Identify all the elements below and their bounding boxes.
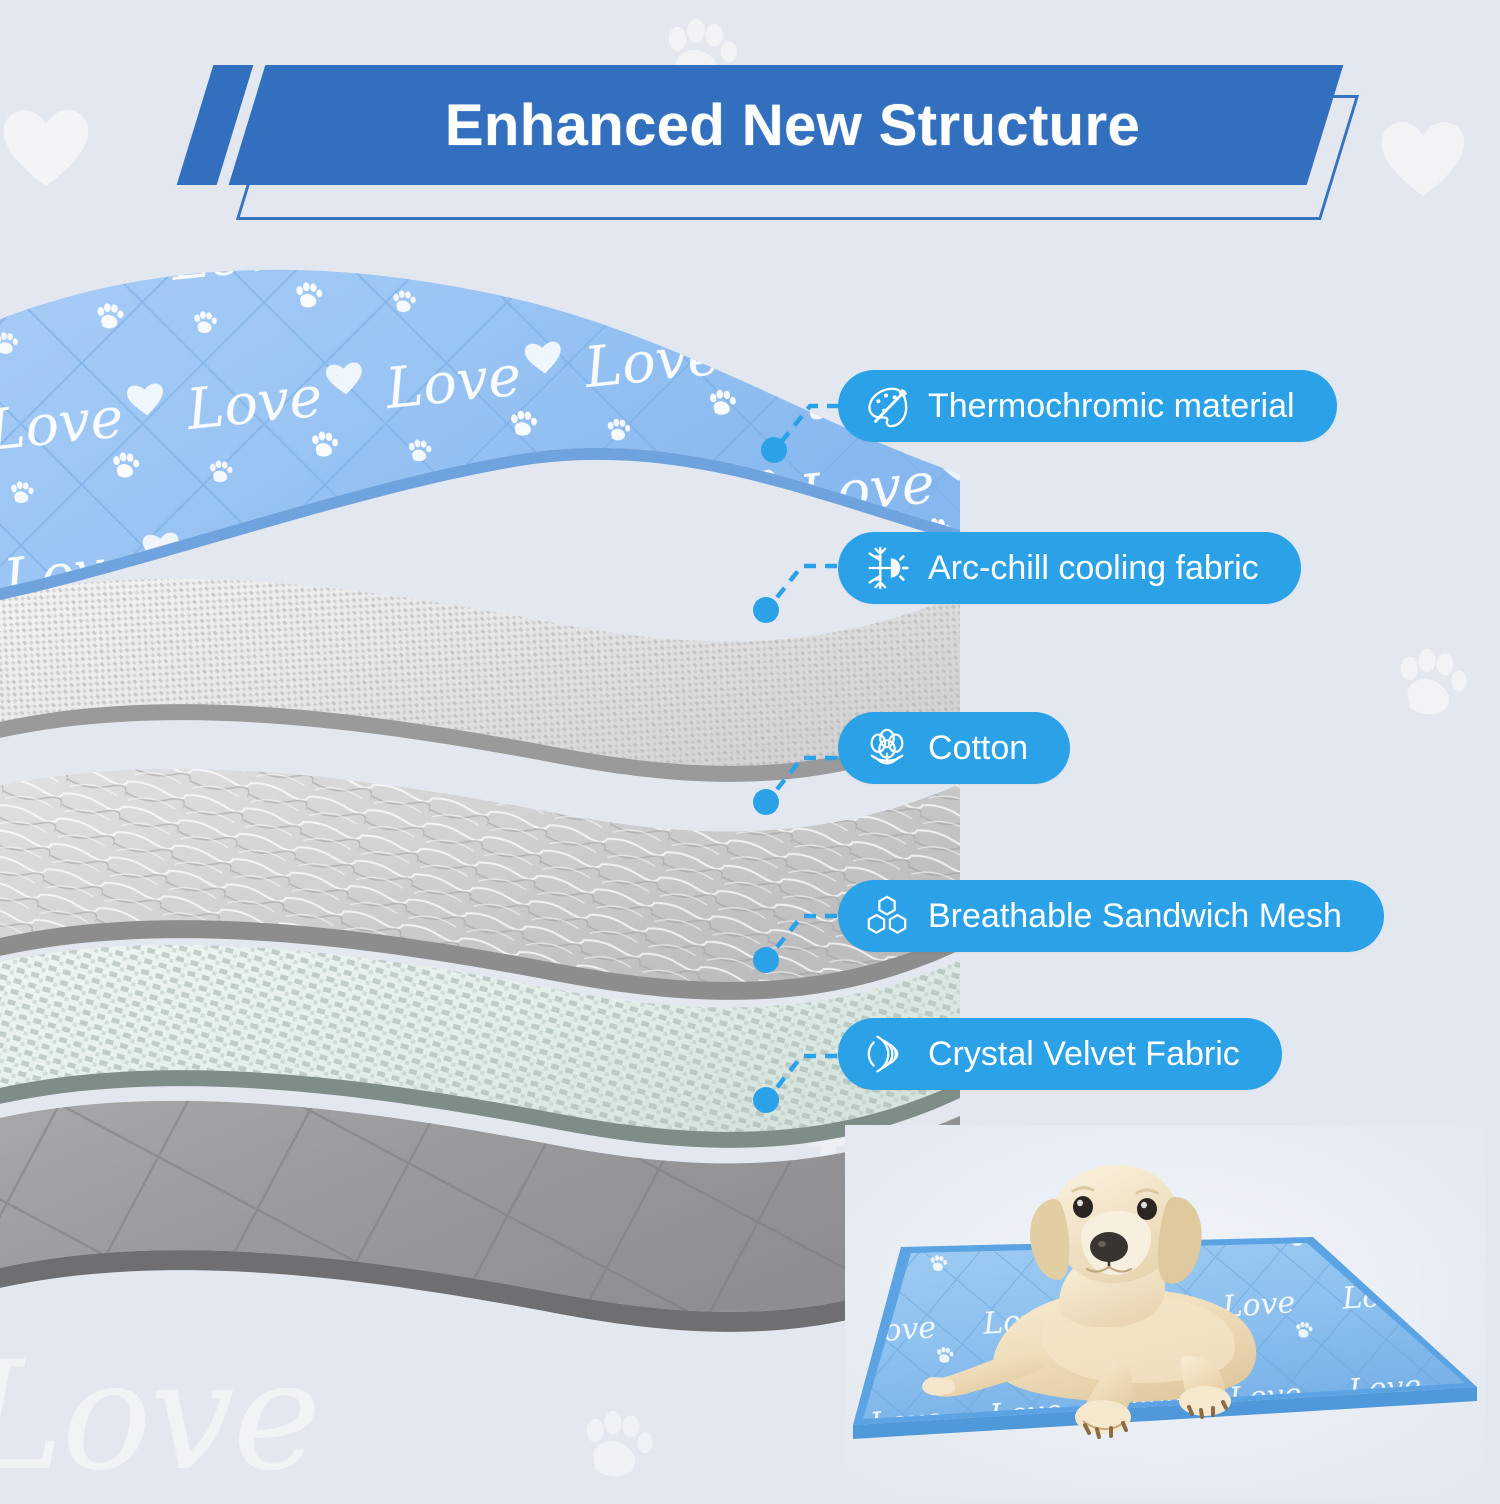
label-thermochromic[interactable]: Thermochromic material [838,370,1337,442]
label-sandwich-mesh[interactable]: Breathable Sandwich Mesh [838,880,1384,952]
infographic-canvas: Love Love Enhanced New Structure [0,0,1500,1500]
heart-watermark [1380,120,1466,200]
label-text: Arc-chill cooling fabric [928,551,1259,585]
label-crystal-velvet[interactable]: Crystal Velvet Fabric [838,1018,1282,1090]
heart-watermark [2,108,90,190]
snowflake-sun-icon [864,545,910,591]
label-text: Breathable Sandwich Mesh [928,899,1342,933]
paw-watermark [1392,648,1470,720]
label-text: Cotton [928,731,1028,765]
label-text: Crystal Velvet Fabric [928,1037,1240,1071]
velvet-swirl-icon [864,1031,910,1077]
exploded-layer-stack: Love [0,240,940,1440]
page-title: Enhanced New Structure [445,92,1140,159]
cotton-boll-icon [864,725,910,771]
banner-fill: Enhanced New Structure [242,65,1344,185]
label-cotton[interactable]: Cotton [838,712,1070,784]
honeycomb-icon [864,893,910,939]
paint-palette-icon [864,383,910,429]
product-photo-dog-on-mat: Love [845,1125,1485,1500]
label-text: Thermochromic material [928,389,1295,423]
label-arc-chill[interactable]: Arc-chill cooling fabric [838,532,1301,604]
title-banner: Enhanced New Structure [195,55,1375,230]
layer-thermochromic: Love [0,240,970,600]
